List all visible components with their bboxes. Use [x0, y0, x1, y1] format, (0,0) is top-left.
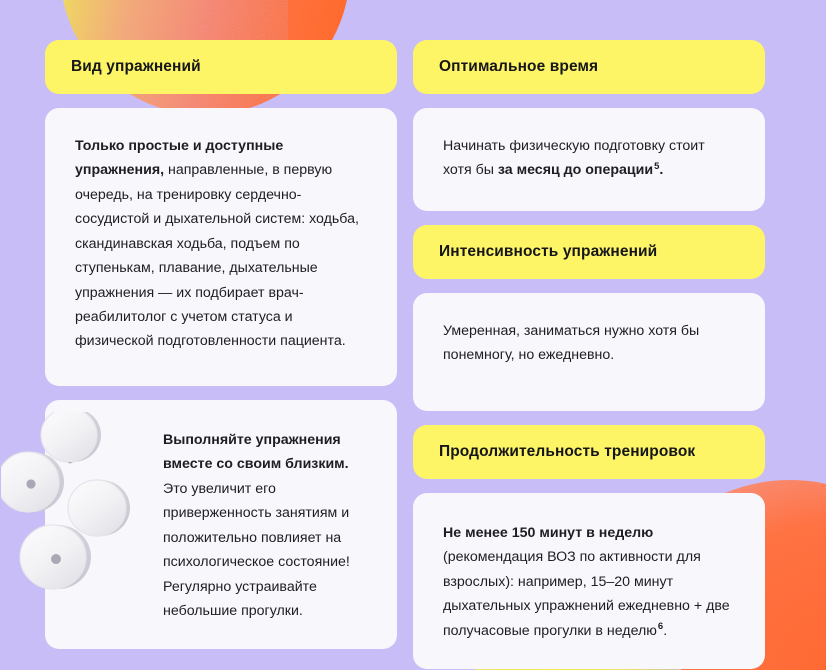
infographic-board: Вид упражнений Только простые и доступны… — [0, 0, 826, 670]
card-optimal-time-suffix: . — [659, 162, 663, 178]
card-intensity: Умеренная, заниматься нужно хотя бы поне… — [413, 293, 765, 411]
dumbbells-icon — [1, 412, 171, 602]
header-intensity-label: Интенсивность упражнений — [439, 243, 657, 262]
card-optimal-time-bold: за месяц до операции — [498, 162, 653, 178]
header-intensity: Интенсивность упражнений — [413, 225, 765, 279]
card-exercise-together-body-bold: Выполняйте упражнения вместе со своим бл… — [163, 432, 349, 472]
header-optimal-time: Оптимальное время — [413, 40, 765, 94]
card-exercise-together: Выполняйте упражнения вместе со своим бл… — [45, 400, 397, 649]
card-duration-body: Не менее 150 минут в неделю (рекомендаци… — [443, 521, 735, 643]
card-duration-bold: Не менее 150 минут в неделю — [443, 525, 653, 541]
card-optimal-time: Начинать физическую подготовку стоит хот… — [413, 108, 765, 211]
card-duration-suffix: . — [663, 623, 667, 639]
card-exercise-type: Только простые и доступные упражнения, н… — [45, 108, 397, 386]
left-column: Вид упражнений Только простые и доступны… — [45, 40, 397, 615]
right-column: Оптимальное время Начинать физическую по… — [413, 40, 765, 615]
card-exercise-type-body: Только простые и доступные упражнения, н… — [75, 134, 367, 354]
card-optimal-time-body: Начинать физическую подготовку стоит хот… — [443, 134, 735, 183]
header-duration: Продолжительность тренировок — [413, 425, 765, 479]
card-intensity-body: Умеренная, заниматься нужно хотя бы поне… — [443, 319, 735, 368]
dumbbell-front — [20, 480, 130, 589]
header-optimal-time-label: Оптимальное время — [439, 58, 598, 77]
card-exercise-type-body-rest: направленные, в первую очередь, на трени… — [75, 162, 359, 349]
header-exercise-type: Вид упражнений — [45, 40, 397, 94]
header-exercise-type-label: Вид упражнений — [71, 58, 201, 77]
dumbbell-back — [1, 412, 101, 512]
card-exercise-together-body-rest: Это увеличит его приверженность занятиям… — [163, 481, 350, 619]
card-duration-rest: (рекомендация ВОЗ по активности для взро… — [443, 549, 730, 638]
header-duration-label: Продолжительность тренировок — [439, 443, 695, 462]
card-exercise-together-body: Выполняйте упражнения вместе со своим бл… — [163, 428, 367, 623]
card-duration: Не менее 150 минут в неделю (рекомендаци… — [413, 493, 765, 669]
